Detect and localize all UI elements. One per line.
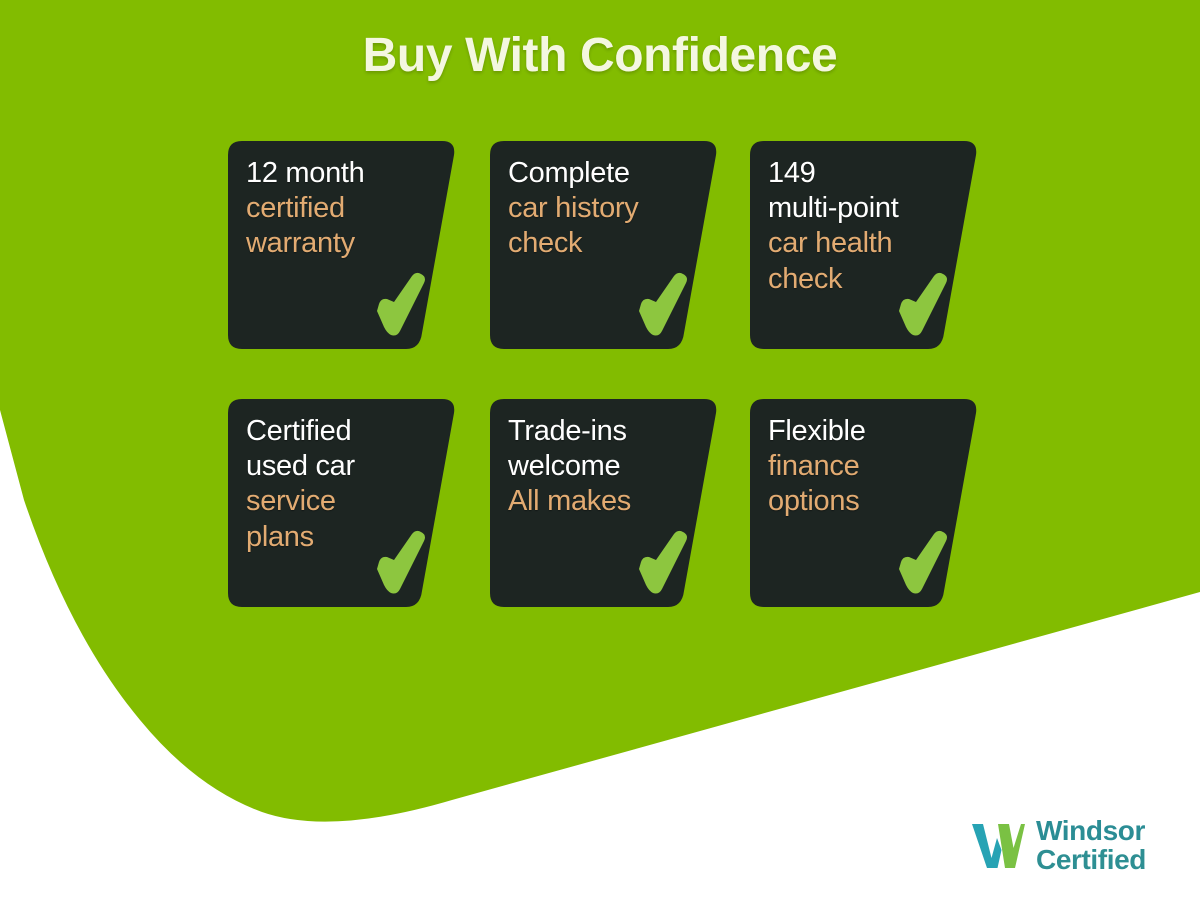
card-line: Trade-ins [508,414,694,449]
card-line: certified [246,191,432,226]
card-certified-used-car-service-plans: Certifiedused carserviceplans [228,399,456,607]
card-line: All makes [508,484,694,519]
check-icon [632,271,694,345]
card-complete-car-history-check: Completecar historycheck [490,141,718,349]
card-text-block: Flexiblefinanceoptions [768,414,954,520]
card-149-multi-point-car-health-check: 149multi-pointcar healthcheck [750,141,978,349]
card-line: 149 [768,156,954,191]
card-line: service [246,484,432,519]
card-line: multi-point [768,191,954,226]
card-12-month-certified-warranty: 12 monthcertifiedwarranty [228,141,456,349]
check-icon [892,529,954,603]
card-line: 12 month [246,156,432,191]
card-text-block: Trade-inswelcomeAll makes [508,414,694,520]
logo-line-1: Windsor [1036,817,1146,846]
card-line: used car [246,449,432,484]
logo-line-2: Certified [1036,846,1146,875]
card-line: finance [768,449,954,484]
check-icon [632,529,694,603]
card-line: car history [508,191,694,226]
card-line: Certified [246,414,432,449]
card-line: Flexible [768,414,954,449]
card-line: warranty [246,226,432,261]
page-title: Buy With Confidence [0,28,1200,83]
card-line: welcome [508,449,694,484]
card-line: car health [768,226,954,261]
card-line: Complete [508,156,694,191]
card-trade-ins-welcome-all-makes: Trade-inswelcomeAll makes [490,399,718,607]
card-text-block: Completecar historycheck [508,156,694,262]
check-icon [370,529,432,603]
logo-wordmark: Windsor Certified [1036,817,1146,874]
windsor-certified-logo: Windsor Certified [968,812,1168,880]
card-line: check [508,226,694,261]
windsor-w-mark-icon [968,820,1026,872]
poster-canvas: Buy With Confidence 12 monthcertifiedwar… [0,0,1200,900]
card-line: options [768,484,954,519]
check-icon [370,271,432,345]
check-icon [892,271,954,345]
card-flexible-finance-options: Flexiblefinanceoptions [750,399,978,607]
card-text-block: 12 monthcertifiedwarranty [246,156,432,262]
